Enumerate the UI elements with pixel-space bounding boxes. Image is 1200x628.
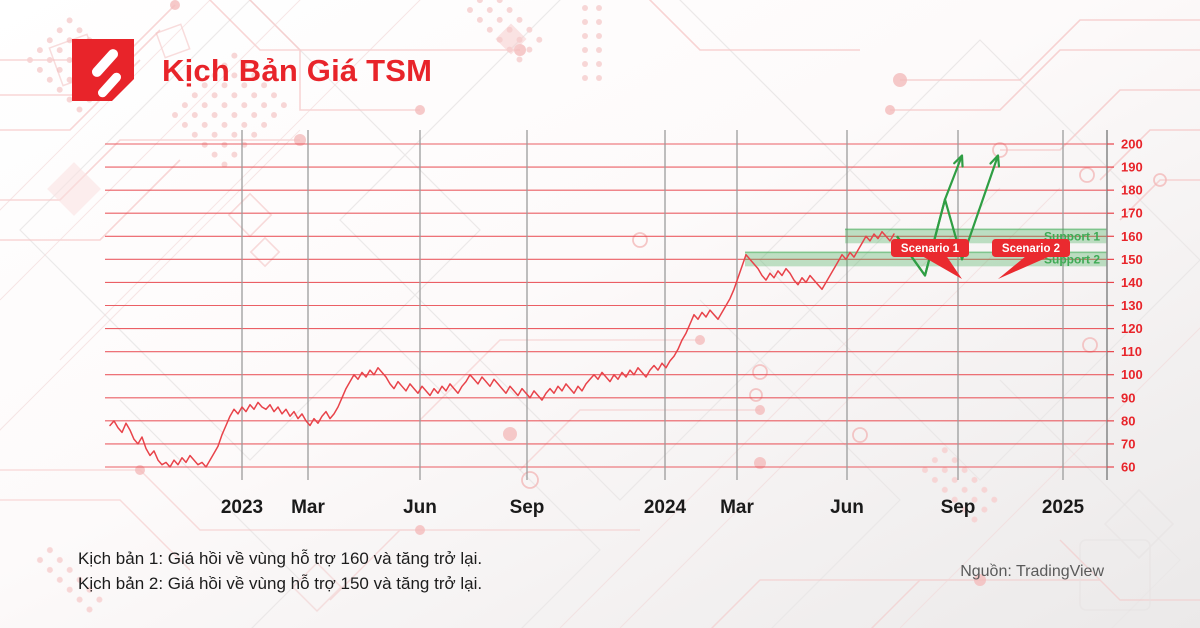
- x-tick-label: Mar: [291, 497, 325, 518]
- x-tick-label: Jun: [830, 497, 864, 518]
- price-line: [110, 232, 894, 467]
- y-tick-label: 100: [1121, 367, 1143, 382]
- y-tick-label: 60: [1121, 460, 1135, 475]
- source-credit: Nguồn: TradingView: [960, 563, 1104, 581]
- y-tick-label: 150: [1121, 252, 1143, 267]
- header: Kịch Bản Giá TSM: [0, 0, 1200, 140]
- caption-line-1: Kịch bản 1: Giá hồi về vùng hỗ trợ 160 v…: [78, 546, 482, 571]
- caption-line-2: Kịch bản 2: Giá hồi về vùng hỗ trợ 150 v…: [78, 571, 482, 596]
- x-tick-label: 2024: [644, 497, 687, 518]
- x-tick-label: 2023: [221, 497, 263, 518]
- document-pen-icon: [72, 39, 134, 101]
- x-tick-label: 2025: [1042, 497, 1085, 518]
- y-tick-label: 170: [1121, 206, 1143, 221]
- page-title: Kịch Bản Giá TSM: [162, 55, 432, 86]
- y-gridlines: [105, 144, 1107, 467]
- y-tick-label: 160: [1121, 229, 1143, 244]
- x-tick-label: Jun: [403, 497, 437, 518]
- y-tick-label: 190: [1121, 160, 1143, 175]
- y-axis-labels: 2001901801701601501401301201101009080706…: [1107, 137, 1143, 475]
- y-tick-label: 120: [1121, 321, 1143, 336]
- infographic-canvas: Kịch Bản Giá TSM 20019018017016015014013…: [0, 0, 1200, 628]
- y-tick-label: 80: [1121, 413, 1135, 428]
- x-axis-labels: 2023MarJunSep2024MarJunSep2025: [221, 497, 1085, 518]
- y-tick-label: 70: [1121, 436, 1135, 451]
- caption-block: Kịch bản 1: Giá hồi về vùng hỗ trợ 160 v…: [78, 546, 482, 596]
- y-tick-label: 110: [1121, 344, 1142, 359]
- x-tick-label: Sep: [510, 497, 545, 518]
- price-chart[interactable]: 2001901801701601501401301201101009080706…: [0, 118, 1200, 538]
- y-tick-label: 140: [1121, 275, 1143, 290]
- y-tick-label: 90: [1121, 390, 1135, 405]
- y-tick-label: 180: [1121, 183, 1143, 198]
- x-tick-label: Sep: [941, 497, 976, 518]
- x-tick-label: Mar: [720, 497, 754, 518]
- scenario-badge-label: Scenario 1: [901, 243, 960, 255]
- scenario-badge-label: Scenario 2: [1002, 243, 1060, 255]
- y-tick-label: 130: [1121, 298, 1143, 313]
